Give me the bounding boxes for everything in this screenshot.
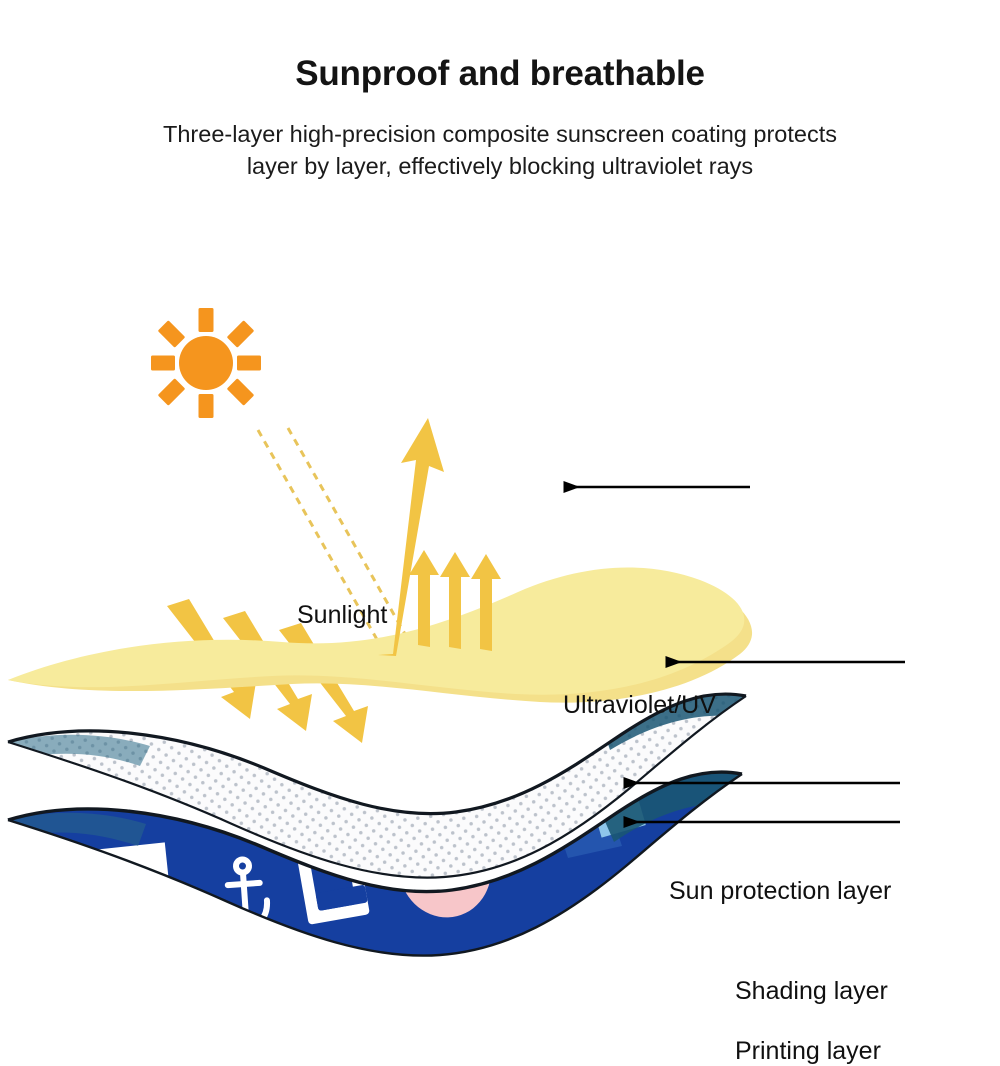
diagram-canvas [0, 250, 1000, 970]
infographic-page: Sunproof and breathable Three-layer high… [0, 0, 1000, 1000]
header: Sunproof and breathable Three-layer high… [0, 0, 1000, 182]
page-title: Sunproof and breathable [0, 0, 1000, 94]
three-layer-diagram: Sunlight Ultraviolet/UV Sun protection l… [0, 250, 1000, 970]
label-ultraviolet: Ultraviolet/UV [563, 691, 716, 720]
uv-up-arrow-icon [378, 418, 444, 656]
reflected-uv-arrow-icon [409, 550, 501, 651]
subtitle-line-1: Three-layer high-precision composite sun… [163, 121, 837, 147]
label-sun-protection-layer: Sun protection layer [669, 877, 891, 906]
label-printing-layer: Printing layer [735, 1037, 881, 1066]
label-shading-layer: Shading layer [735, 977, 888, 1006]
sun-icon [151, 308, 261, 418]
subtitle-line-2: layer by layer, effectively blocking ult… [0, 150, 1000, 182]
page-subtitle: Three-layer high-precision composite sun… [0, 94, 1000, 182]
label-sunlight: Sunlight [297, 601, 387, 630]
